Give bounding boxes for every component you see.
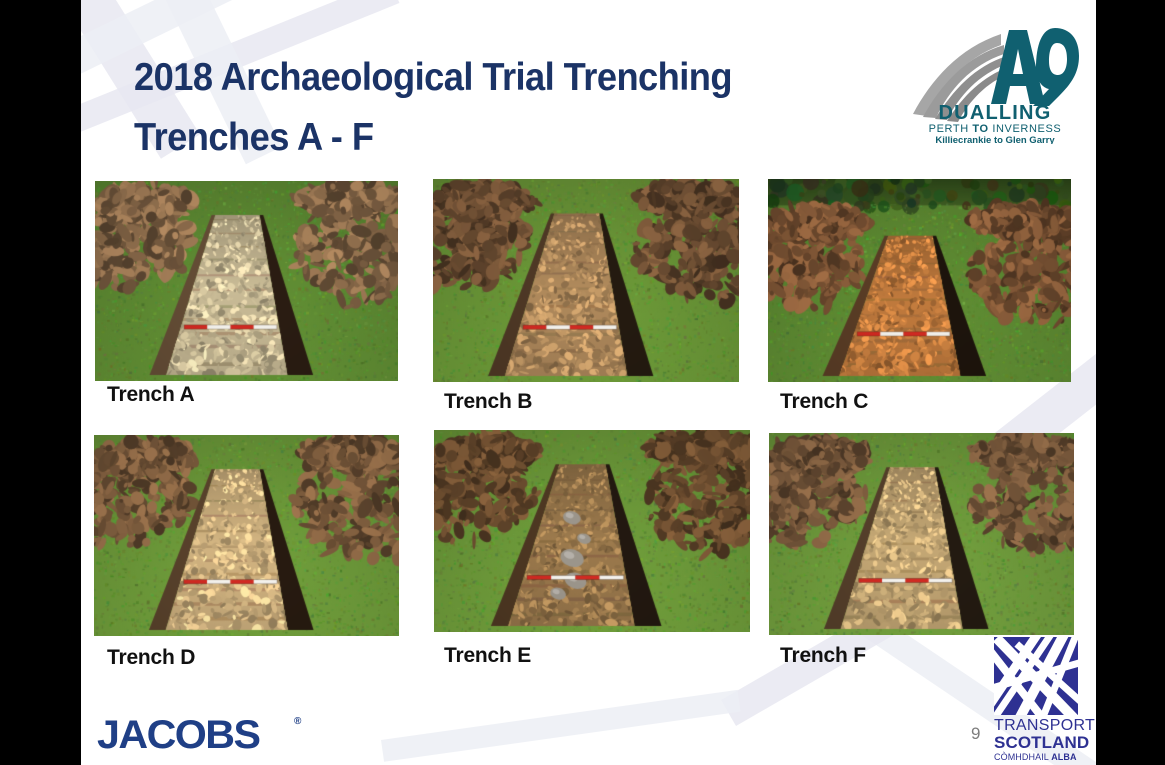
transport-scotland-gaelic: CÒMHDHAIL ALBA <box>994 753 1078 762</box>
photo-trench-d-image <box>94 435 399 636</box>
caption-trench-e: Trench E <box>444 644 531 668</box>
caption-trench-c: Trench C <box>780 390 868 414</box>
caption-trench-f: Trench F <box>780 644 866 668</box>
jacobs-trademark-icon: ® <box>294 716 301 727</box>
caption-trench-a: Trench A <box>107 383 194 407</box>
caption-trench-b: Trench B <box>444 390 532 414</box>
title-line-2: Trenches A - F <box>134 108 869 168</box>
jacobs-wordmark: JACOBS <box>97 714 259 756</box>
photo-trench-d[interactable] <box>94 435 399 636</box>
a9-logo-section: Killiecrankie to Glen Garry <box>935 135 1055 144</box>
transport-scotland-saltire-icon <box>994 637 1078 715</box>
transport-scotland-wordmark: TRANSPORT SCOTLAND CÒMHDHAIL ALBA <box>994 718 1078 762</box>
watermark-ribbon-8 <box>381 690 741 762</box>
transport-scotland-line-1: TRANSPORT <box>994 718 1078 734</box>
photo-trench-f-image <box>769 433 1074 635</box>
letterbox-right <box>1096 0 1165 765</box>
caption-trench-d: Trench D <box>107 646 195 670</box>
photo-trench-f[interactable] <box>769 433 1074 635</box>
slide-canvas: 2018 Archaeological Trial Trenching Tren… <box>81 0 1096 765</box>
a9-dualling-logo: DUALLING PERTH TO INVERNESS Killiecranki… <box>909 18 1081 144</box>
photo-trench-e[interactable] <box>434 430 750 632</box>
photo-trench-c[interactable] <box>768 179 1071 382</box>
transport-scotland-logo: TRANSPORT SCOTLAND CÒMHDHAIL ALBA <box>994 637 1078 755</box>
page-number: 9 <box>971 724 980 744</box>
jacobs-logo: JACOBS ® <box>97 714 255 756</box>
slide-root: 2018 Archaeological Trial Trenching Tren… <box>0 0 1165 765</box>
transport-scotland-gaelic-1: CÒMHDHAIL <box>994 752 1049 762</box>
transport-scotland-gaelic-2: ALBA <box>1051 752 1076 762</box>
title-line-1: 2018 Archaeological Trial Trenching <box>134 48 869 108</box>
photo-trench-e-image <box>434 430 750 632</box>
a9-logo-perth-to-inverness: PERTH TO INVERNESS <box>929 123 1062 135</box>
letterbox-left <box>0 0 81 765</box>
a9-dualling-logo-svg: DUALLING PERTH TO INVERNESS Killiecranki… <box>909 18 1081 144</box>
photo-trench-a[interactable] <box>95 181 398 381</box>
transport-scotland-line-2: SCOTLAND <box>994 734 1078 751</box>
page-title: 2018 Archaeological Trial Trenching Tren… <box>134 48 924 168</box>
a9-logo-dualling: DUALLING <box>939 102 1052 124</box>
photo-trench-b-image <box>433 179 739 382</box>
photo-trench-b[interactable] <box>433 179 739 382</box>
photo-trench-a-image <box>95 181 398 381</box>
photo-trench-c-image <box>768 179 1071 382</box>
